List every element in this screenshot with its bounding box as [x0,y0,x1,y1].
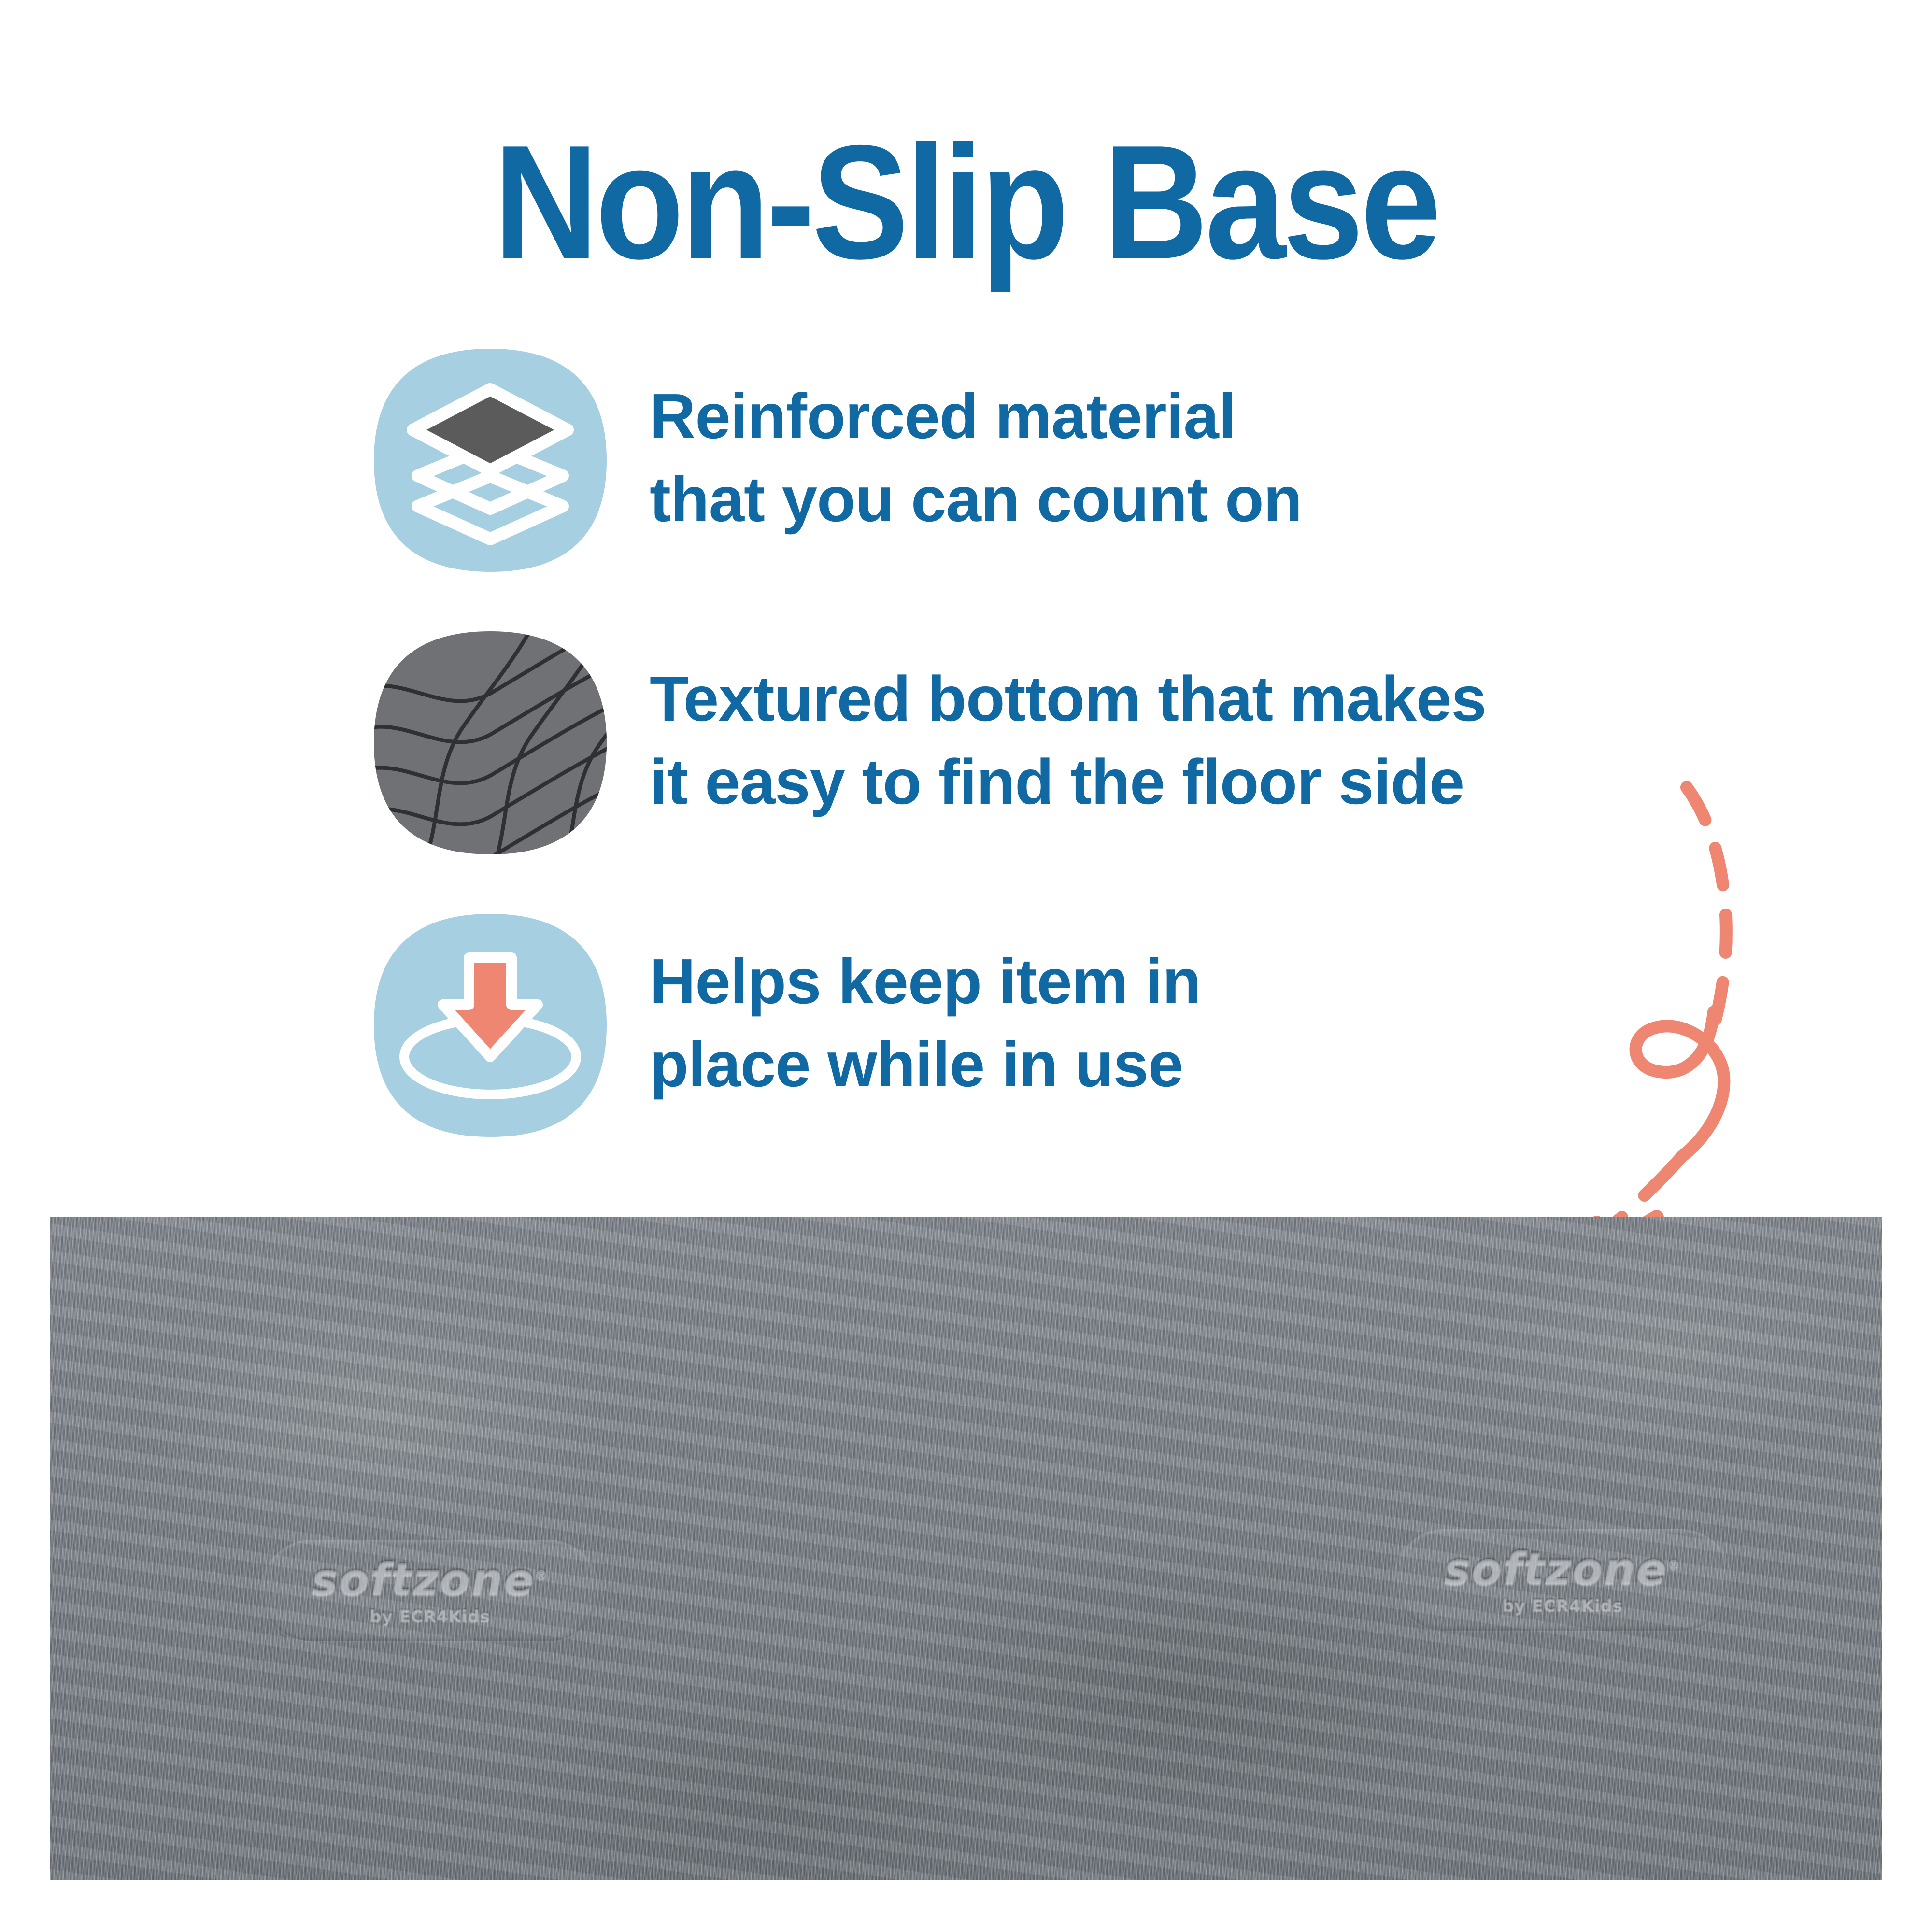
feature-text-keeps-in-place: Helps keep item in place while in use [650,940,1201,1106]
feature-text-reinforced-material: Reinforced material that you can count o… [650,375,1302,540]
feature-line: Helps keep item in [650,940,1201,1023]
embossed-brand-word: softzone® [1444,1547,1681,1591]
page-title: Non-Slip Base [0,121,1932,283]
feature-line: Reinforced material [650,375,1302,458]
feature-line: it easy to find the floor side [650,740,1486,824]
embossed-logo-left: softzone® by ECR4Kids [261,1540,599,1641]
feature-list: Reinforced material that you can count o… [372,347,1773,1194]
layers-icon [372,347,609,574]
feature-line: that you can count on [650,458,1302,541]
feature-row-keeps-in-place: Helps keep item in place while in use [372,912,1773,1194]
embossed-logo-right: softzone® by ECR4Kids [1393,1529,1732,1631]
embossed-brand-subline: by ECR4Kids [369,1608,490,1624]
feature-line: place while in use [650,1023,1201,1106]
feature-row-textured-bottom: Textured bottom that makes it easy to fi… [372,629,1773,912]
downward-arrow-grip-icon [372,912,609,1139]
embossed-brand-subline: by ECR4Kids [1502,1597,1623,1614]
feature-row-reinforced-material: Reinforced material that you can count o… [372,347,1773,629]
feature-line: Textured bottom that makes [650,657,1486,740]
feature-text-textured-bottom: Textured bottom that makes it easy to fi… [650,657,1486,823]
textured-surface-icon [372,629,609,856]
embossed-brand-word: softzone® [312,1557,549,1602]
